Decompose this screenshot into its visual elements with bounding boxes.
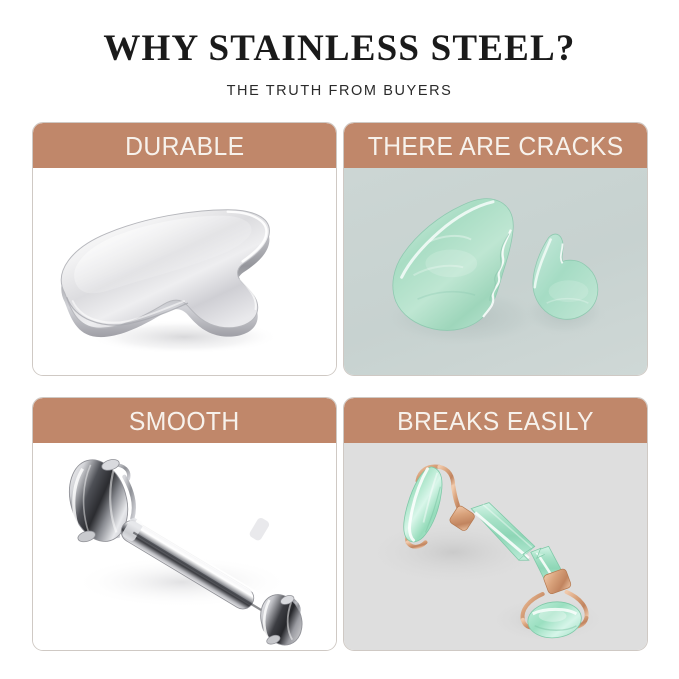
card-header-label: DURABLE [125, 133, 244, 159]
page-subtitle: THE TRUTH FROM BUYERS [0, 83, 679, 99]
card-header-there-are-cracks: THERE ARE CRACKS [344, 123, 647, 168]
broken-jade-face-roller-image [344, 443, 647, 650]
comparison-grid: DURABLE [32, 122, 648, 651]
stainless-steel-face-roller-image [33, 443, 336, 650]
card-header-label: THERE ARE CRACKS [368, 133, 624, 159]
card-smooth: SMOOTH [32, 397, 337, 651]
card-header-durable: DURABLE [33, 123, 336, 168]
card-body-durable [33, 168, 336, 375]
card-breaks-easily: BREAKS EASILY [343, 397, 648, 651]
card-body-smooth [33, 443, 336, 650]
card-header-label: BREAKS EASILY [397, 408, 594, 434]
card-header-label: SMOOTH [129, 408, 240, 434]
card-header-breaks-easily: BREAKS EASILY [344, 398, 647, 443]
card-durable: DURABLE [32, 122, 337, 376]
card-there-are-cracks: THERE ARE CRACKS [343, 122, 648, 376]
card-body-there-are-cracks [344, 168, 647, 375]
card-body-breaks-easily [344, 443, 647, 650]
stainless-steel-gua-sha-image [33, 168, 336, 375]
infographic-page: WHY STAINLESS STEEL? THE TRUTH FROM BUYE… [0, 0, 679, 679]
page-title: WHY STAINLESS STEEL? [0, 28, 679, 71]
cracked-jade-gua-sha-image [344, 168, 647, 375]
heading-block: WHY STAINLESS STEEL? THE TRUTH FROM BUYE… [0, 28, 679, 99]
card-header-smooth: SMOOTH [33, 398, 336, 443]
